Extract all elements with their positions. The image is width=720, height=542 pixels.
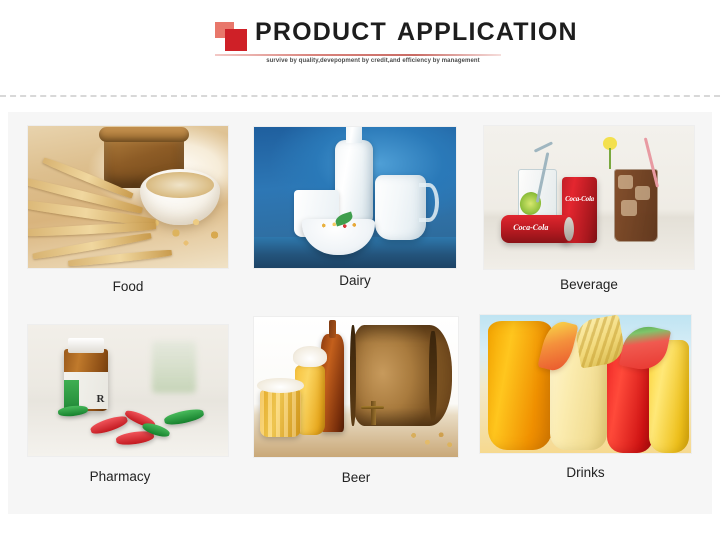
food-cereal-wheat-photo[interactable]	[28, 126, 228, 268]
title-secondary: APPLICATION	[397, 18, 578, 46]
beer-barrel-mug-photo[interactable]	[254, 317, 458, 457]
cola-can-brand-text: Coca-Cola	[502, 223, 559, 232]
bottle-cap-shape	[68, 338, 104, 352]
pharmacy-pills-bottle-photo[interactable]: R	[28, 325, 228, 456]
milk-jug-shape	[375, 175, 426, 240]
barrel-tap-shape	[358, 401, 391, 435]
page-title: PRODUCTAPPLICATION	[255, 18, 578, 47]
flower-shape	[593, 137, 627, 168]
tile-label-beer: Beer	[254, 470, 458, 485]
cola-can-lying-shape: Coca-Cola	[501, 215, 572, 244]
drinks-fruit-juice-photo[interactable]	[480, 315, 691, 453]
dairy-milk-bottle-photo[interactable]	[254, 127, 456, 268]
tile-label-beverage: Beverage	[484, 277, 694, 292]
beverage-cola-cans-photo[interactable]: Coca-Cola Coca-Cola	[484, 126, 694, 269]
barrel-hoop-shape	[350, 325, 356, 426]
barley-grain-shape	[403, 423, 456, 454]
title-main: PRODUCT	[255, 18, 387, 46]
ice-cube-shape	[621, 200, 638, 216]
title-underline-rule	[215, 54, 501, 56]
bottle-label-shape: R	[64, 372, 108, 409]
tile-label-food: Food	[28, 279, 228, 294]
red-capsule-shape	[89, 414, 129, 437]
cola-can-brand-text: Coca-Cola	[562, 195, 598, 203]
barrel-hoop-shape	[429, 331, 436, 421]
brand-logo-block: PRODUCTAPPLICATION survive by quality,de…	[215, 18, 505, 74]
beer-mug-shape	[260, 390, 301, 438]
logo-square-front-icon	[225, 29, 247, 51]
two-red-squares-logo-icon	[215, 22, 249, 52]
tile-label-pharmacy: Pharmacy	[20, 469, 220, 484]
tile-label-dairy: Dairy	[254, 273, 456, 288]
page-header: PRODUCTAPPLICATION survive by quality,de…	[0, 0, 720, 96]
ice-cube-shape	[635, 186, 650, 200]
page-subtitle: survive by quality,devepopment by credit…	[245, 58, 501, 64]
green-capsule-shape	[58, 405, 89, 419]
background-blur-shape	[152, 341, 196, 393]
tile-label-drinks: Drinks	[480, 465, 691, 480]
cereal-flakes-shape	[144, 211, 228, 251]
rx-letter-text: R	[97, 393, 105, 405]
green-capsule-shape	[163, 407, 205, 427]
orange-juice-glass-shape	[488, 321, 551, 451]
ice-cube-shape	[618, 175, 633, 189]
header-divider	[0, 95, 720, 97]
